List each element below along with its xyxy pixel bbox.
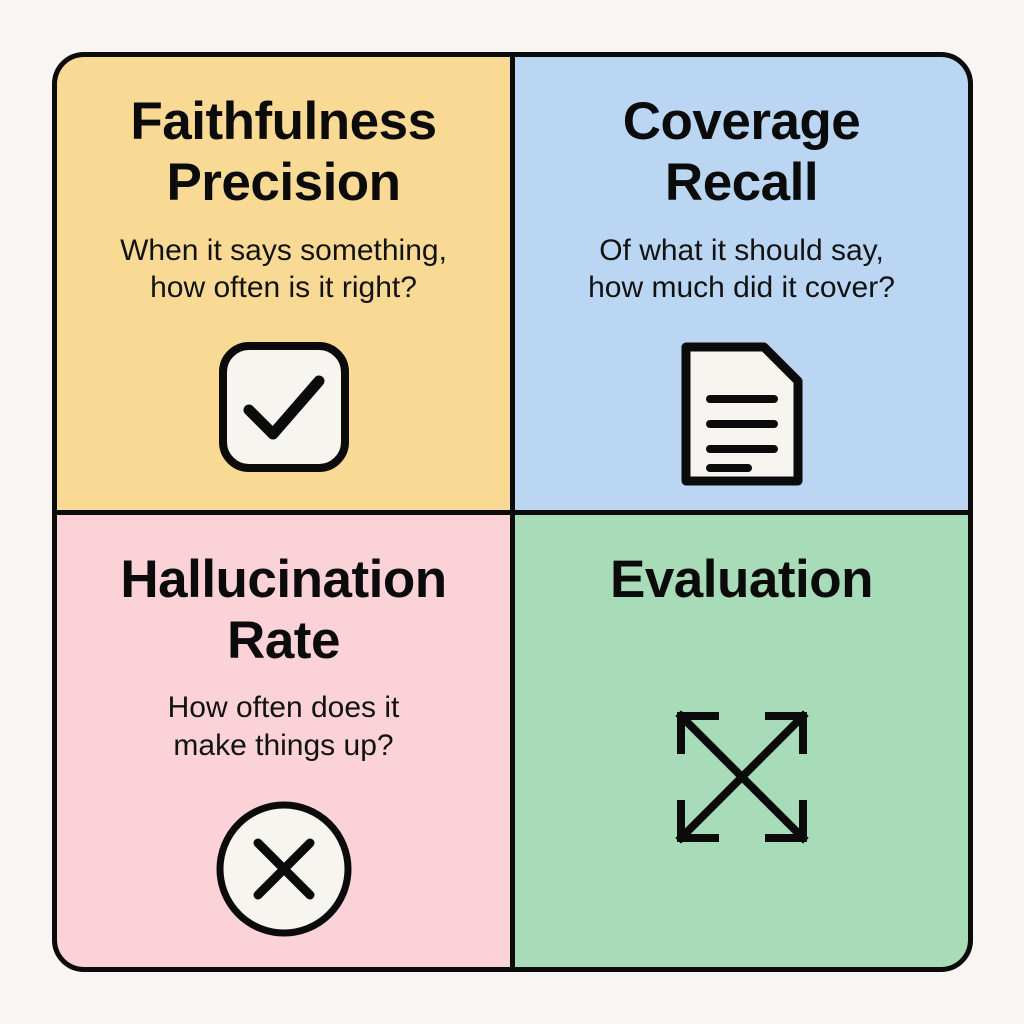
quadrant-subtitle-line1: How often does it bbox=[168, 691, 400, 724]
document-icon bbox=[680, 341, 804, 492]
quadrant-title-line1: Coverage bbox=[623, 92, 861, 151]
quadrant-icon-wrap-evaluation bbox=[667, 702, 817, 857]
quadrant-title-coverage: Coverage Recall bbox=[623, 91, 861, 214]
quadrant-icon-wrap-faithfulness bbox=[218, 341, 350, 478]
quadrant-title-line2: Precision bbox=[166, 153, 400, 212]
quadrant-title-line1: Evaluation bbox=[610, 550, 873, 609]
quadrant-hallucination[interactable]: Hallucination Rate How often does it mak… bbox=[57, 515, 510, 968]
quadrant-faithfulness[interactable]: Faithfulness Precision When it says some… bbox=[57, 57, 510, 510]
quadrant-title-line1: Faithfulness bbox=[130, 92, 436, 151]
quadrant-coverage[interactable]: Coverage Recall Of what it should say, h… bbox=[515, 57, 968, 510]
quadrant-title-line2: Rate bbox=[227, 611, 340, 670]
quadrant-title-line2: Recall bbox=[665, 153, 818, 212]
quadrant-subtitle-faithfulness: When it says something, how often is it … bbox=[120, 232, 447, 307]
quadrant-title-faithfulness: Faithfulness Precision bbox=[130, 91, 436, 214]
expand-arrows-icon bbox=[667, 702, 817, 857]
metrics-quadrant-frame: Faithfulness Precision When it says some… bbox=[52, 52, 973, 972]
quadrant-subtitle-coverage: Of what it should say, how much did it c… bbox=[588, 232, 895, 307]
quadrant-subtitle-line2: make things up? bbox=[173, 729, 393, 762]
quadrant-subtitle-hallucination: How often does it make things up? bbox=[168, 689, 400, 764]
x-circle-icon bbox=[213, 798, 355, 945]
quadrant-title-line1: Hallucination bbox=[120, 550, 446, 609]
quadrant-subtitle-line2: how much did it cover? bbox=[588, 271, 895, 304]
quadrant-subtitle-line2: how often is it right? bbox=[150, 271, 417, 304]
quadrant-subtitle-line1: Of what it should say, bbox=[599, 234, 884, 267]
quadrant-subtitle-line1: When it says something, bbox=[120, 234, 447, 267]
quadrant-title-hallucination: Hallucination Rate bbox=[120, 549, 446, 672]
quadrant-icon-wrap-hallucination bbox=[213, 798, 355, 945]
quadrant-evaluation[interactable]: Evaluation bbox=[515, 515, 968, 968]
quadrant-icon-wrap-coverage bbox=[680, 341, 804, 492]
quadrant-title-evaluation: Evaluation bbox=[610, 549, 873, 610]
check-square-icon bbox=[218, 341, 350, 478]
